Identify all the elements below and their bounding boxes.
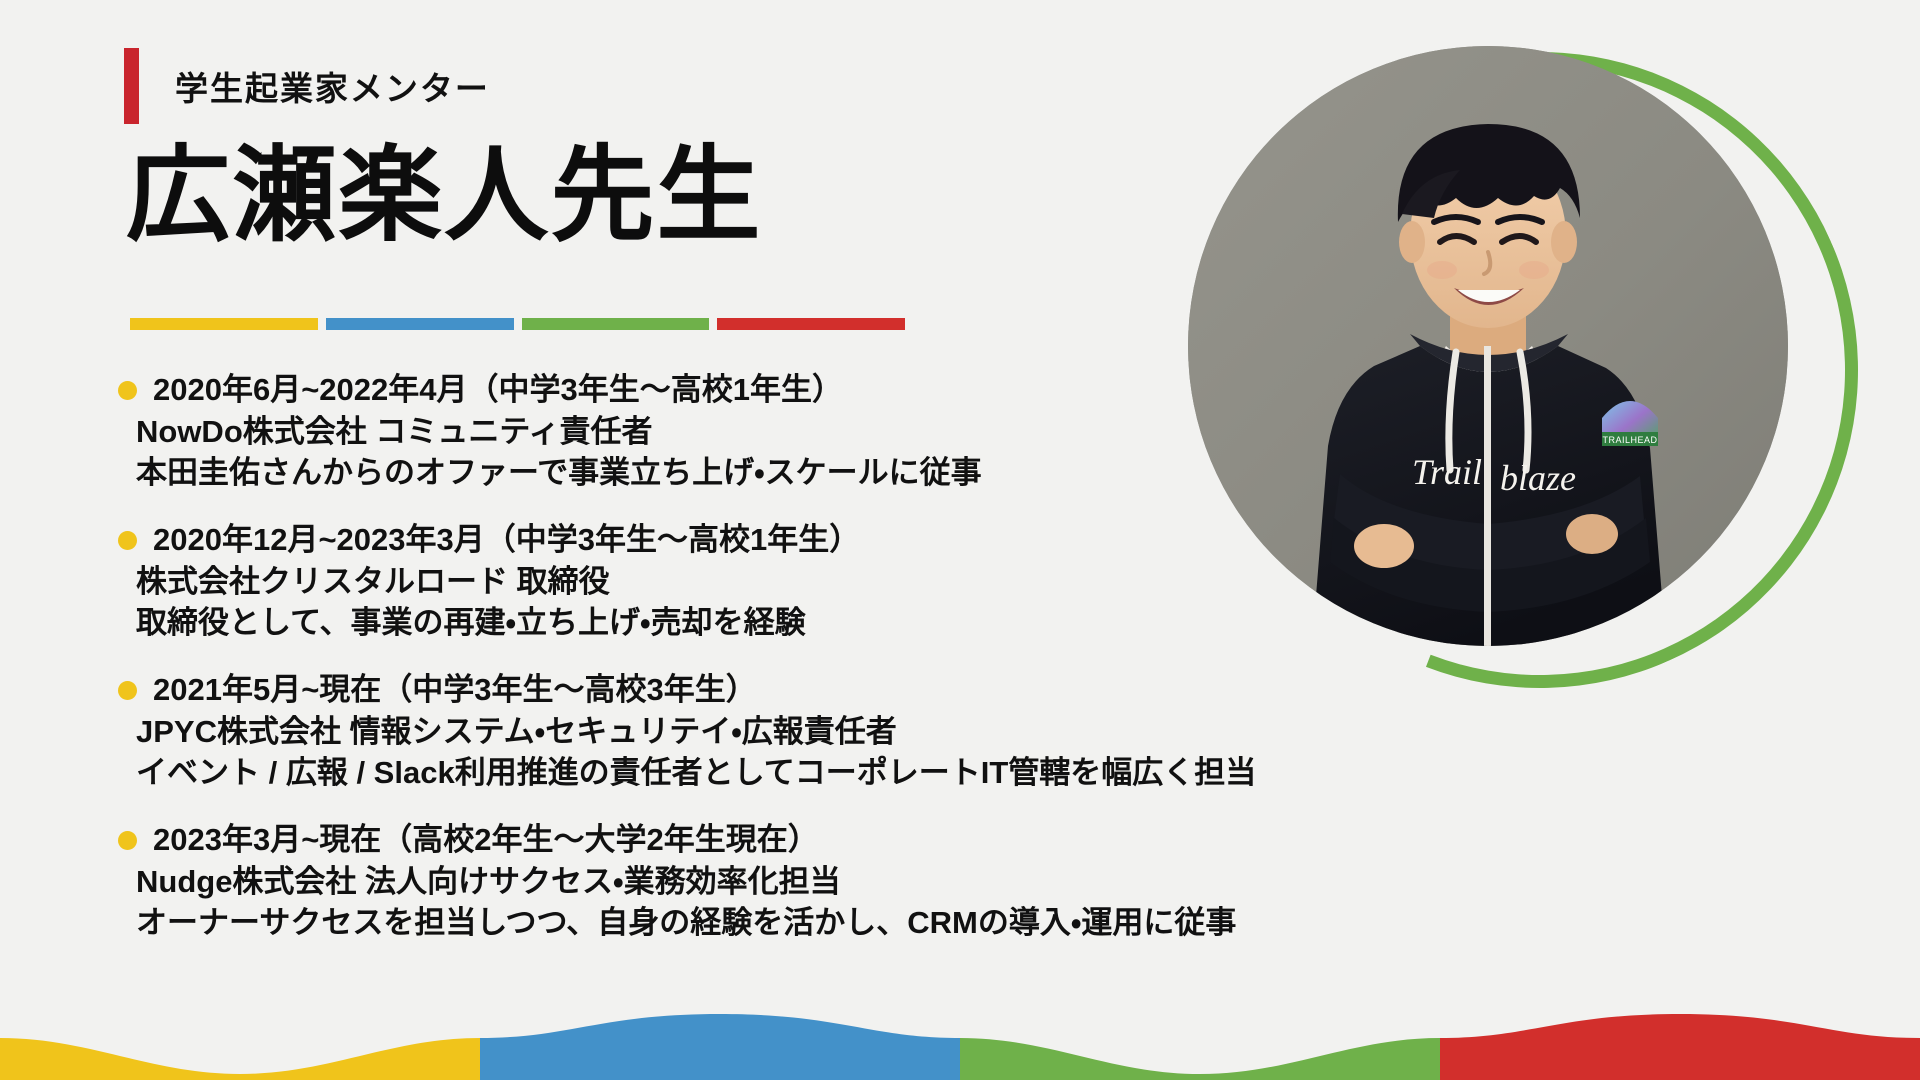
divider-segment-yellow (130, 318, 318, 330)
eyebrow-accent-bar (124, 48, 139, 124)
eyebrow: 学生起業家メンター (124, 48, 490, 124)
bullet-dot-icon (118, 531, 137, 550)
svg-text:Trail: Trail (1412, 452, 1482, 492)
svg-text:TRAILHEAD: TRAILHEAD (1602, 435, 1657, 445)
portrait-area: Trail blaze TRAILHEAD (1160, 0, 1920, 780)
wave-segment-yellow (0, 1038, 480, 1080)
bullet-period-label: 2021年5月~現在（中学3年生〜高校3年生） (153, 670, 757, 711)
slide-root: 学生起業家メンター 広瀬楽人先生 2020年6月~2022年4月（中学3年生〜高… (0, 0, 1920, 1080)
divider-segment-green (522, 318, 710, 330)
color-divider (130, 318, 905, 330)
wave-segment-blue (480, 1014, 960, 1080)
list-item: 2023年3月~現在（高校2年生〜大学2年生現在） Nudge株式会社 法人向け… (118, 820, 1348, 944)
svg-text:blaze: blaze (1500, 458, 1576, 498)
bullet-period-label: 2023年3月~現在（高校2年生〜大学2年生現在） (153, 820, 819, 861)
bullet-period-label: 2020年12月~2023年3月（中学3年生〜高校1年生） (153, 520, 860, 561)
page-title: 広瀬楽人先生 (126, 140, 762, 252)
left-content-column: 学生起業家メンター 広瀬楽人先生 2020年6月~2022年4月（中学3年生〜高… (0, 0, 1240, 1080)
wave-segment-red (1440, 1014, 1920, 1080)
bullet-period-row: 2023年3月~現在（高校2年生〜大学2年生現在） (118, 820, 1348, 861)
bullet-period-label: 2020年6月~2022年4月（中学3年生〜高校1年生） (153, 370, 843, 411)
bottom-wave-bar (0, 1008, 1920, 1080)
bullet-dot-icon (118, 381, 137, 400)
bullet-detail-label: オーナーサクセスを担当しつつ、自身の経験を活かし、CRMの導入・運用に従事 (136, 902, 1348, 944)
eyebrow-label: 学生起業家メンター (175, 62, 490, 110)
bullet-org-label: Nudge株式会社 法人向けサクセス・業務効率化担当 (136, 861, 1348, 903)
wave-segment-green (960, 1038, 1440, 1080)
divider-segment-blue (326, 318, 514, 330)
bullet-dot-icon (118, 681, 137, 700)
divider-segment-red (717, 318, 905, 330)
avatar: Trail blaze TRAILHEAD (1188, 46, 1788, 646)
bullet-dot-icon (118, 831, 137, 850)
portrait-illustration: Trail blaze TRAILHEAD (1188, 46, 1788, 646)
